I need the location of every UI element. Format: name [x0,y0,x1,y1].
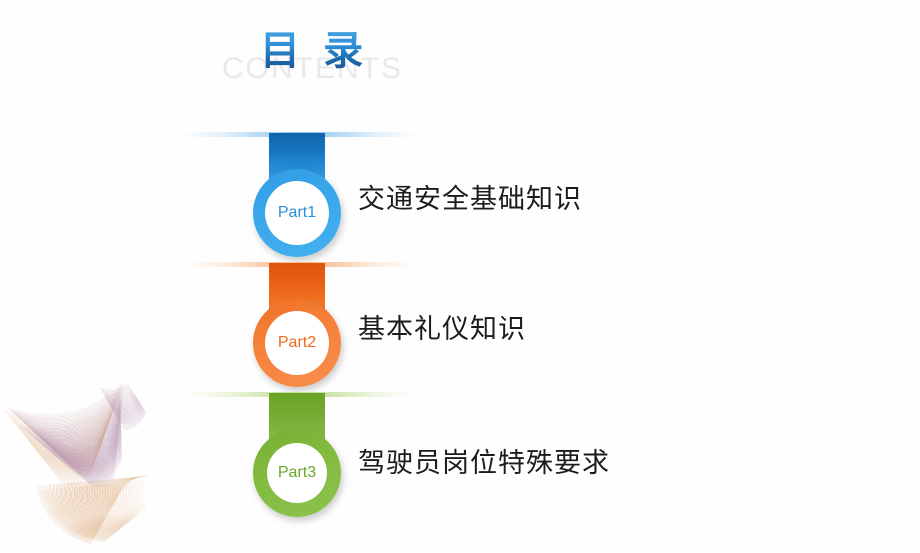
row-title-part2: 基本礼仪知识 [358,316,526,343]
badge-circle-part2[interactable]: Part2 [253,299,341,387]
badge-inner-circle: Part3 [267,443,327,503]
row-title-part3: 驾驶员岗位特殊要求 [358,450,610,477]
badge-circle-part3[interactable]: Part3 [253,429,341,517]
badge-circle-part1[interactable]: Part1 [253,169,341,257]
badge-inner-circle: Part1 [265,181,329,245]
page-title: CONTENTS 目 录 [222,28,442,98]
title-main-chinese: 目 录 [260,28,369,74]
content-row-part2[interactable]: Part2 基本礼仪知识 [0,258,920,388]
content-row-part3[interactable]: Part3 驾驶员岗位特殊要求 [0,388,920,518]
badge-label-part3: Part3 [278,465,316,481]
badge-label-part1: Part1 [278,205,316,221]
row-title-part1: 交通安全基础知识 [358,186,582,213]
badge-label-part2: Part2 [278,335,316,351]
slide-canvas: CONTENTS 目 录 Part1 交通安全基础知识 Part2 基本礼仪知识… [0,0,920,548]
badge-inner-circle: Part2 [265,311,329,375]
content-row-part1[interactable]: Part1 交通安全基础知识 [0,128,920,258]
